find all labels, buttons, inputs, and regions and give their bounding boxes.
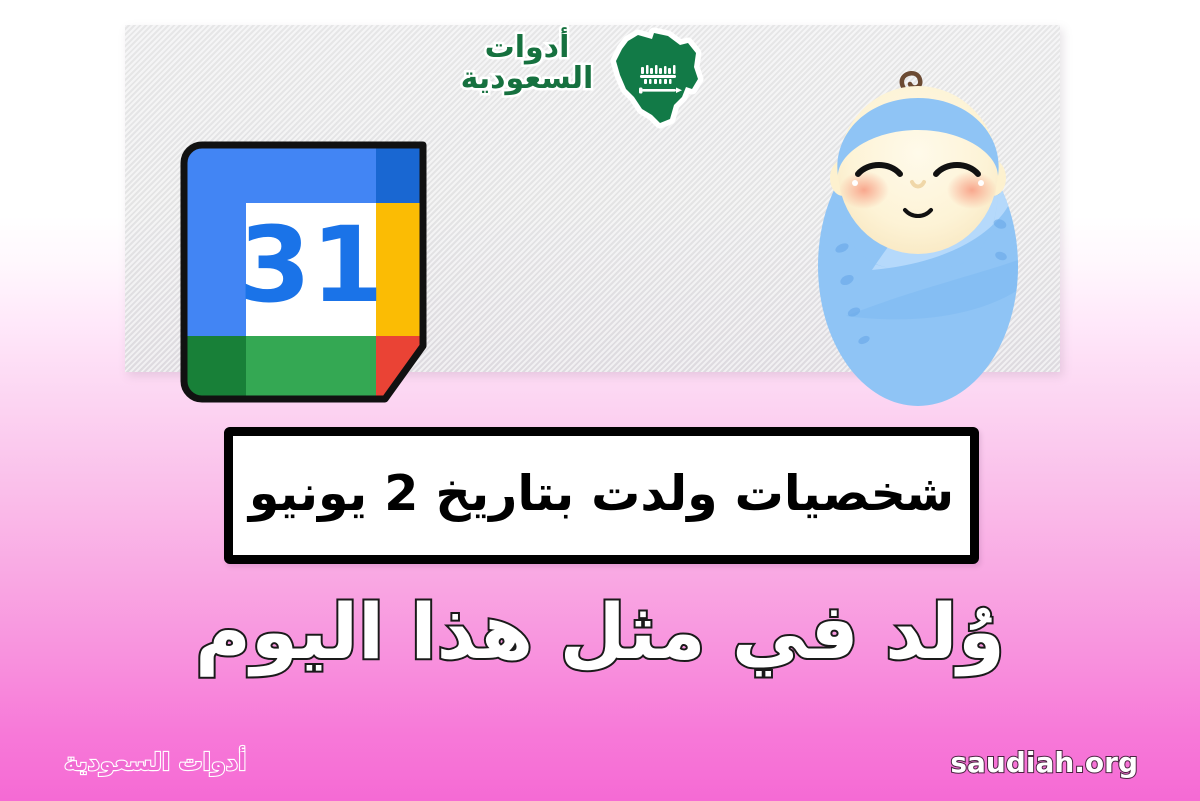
calendar-day-number: 31 [239,204,384,326]
baby-cheek-left [839,171,889,209]
footer-brand-text: أدوات السعودية [64,748,246,776]
google-calendar-icon: 31 [180,141,445,403]
main-title: وُلد في مثل هذا اليوم [0,588,1200,675]
headline-box: شخصيات ولدت بتاريخ 2 يونيو [224,427,979,564]
headline-text: شخصيات ولدت بتاريخ 2 يونيو [249,469,954,522]
main-title-text: وُلد في مثل هذا اليوم [195,588,1005,675]
baby-cheek-right [947,171,997,209]
footer-site-url: saudiah.org [950,746,1138,779]
swaddled-baby-illustration [802,58,1034,418]
saudi-arabia-map-icon [608,27,706,132]
brand-logo: أدوات السعودية [452,32,602,94]
brand-logo-line1: أدوات [452,32,602,63]
poster-canvas: أدوات السعودية [0,0,1200,801]
brand-logo-line2: السعودية [452,63,602,94]
